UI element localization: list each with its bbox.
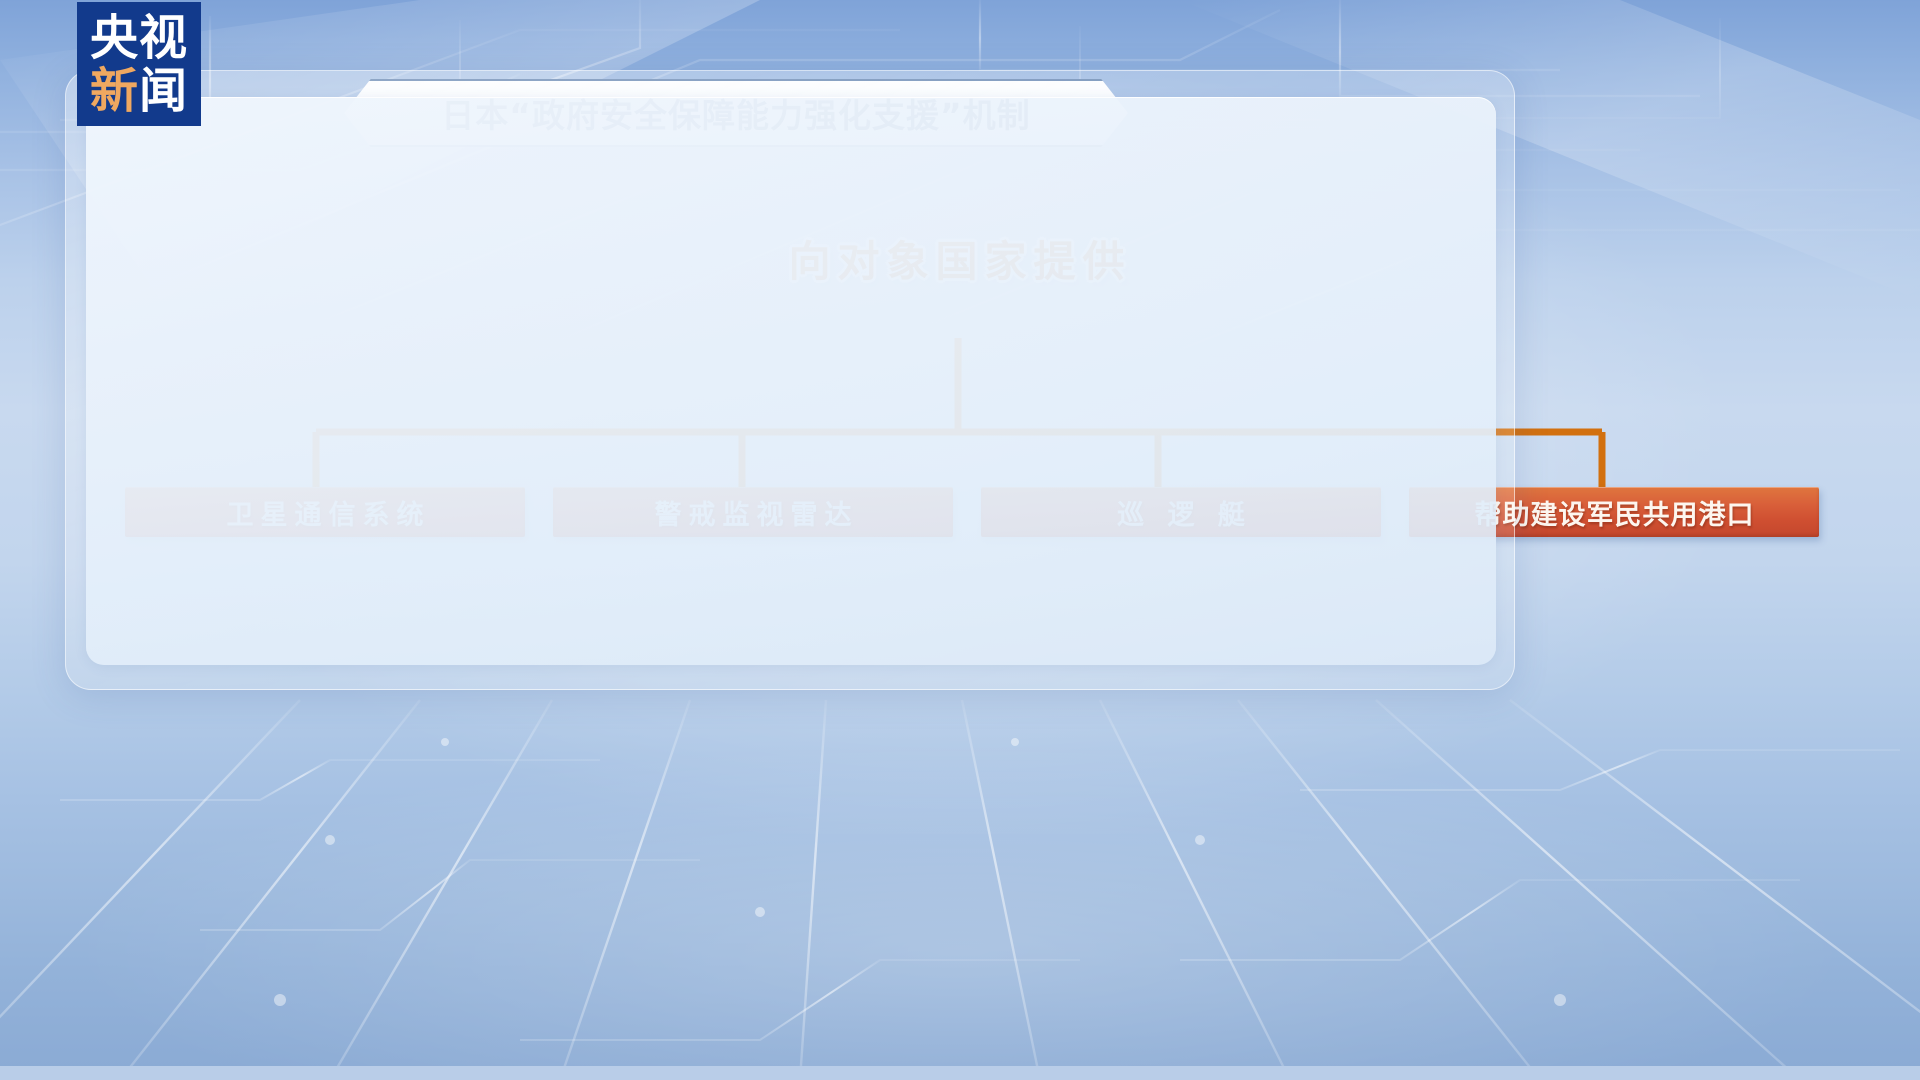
logo-char-wen: 闻 xyxy=(139,67,188,115)
logo-char-xin: 新 xyxy=(90,67,139,115)
content-panel-inner xyxy=(86,97,1496,665)
bottom-strip xyxy=(0,1066,1920,1080)
logo-line-2: 新 闻 xyxy=(90,67,188,115)
cctv-news-logo: 央视 新 闻 xyxy=(77,2,201,126)
leaf-box-label: 帮助建设军民共用港口 xyxy=(1474,493,1755,532)
logo-line-1: 央视 xyxy=(90,14,188,62)
content-panel xyxy=(65,70,1515,690)
broadcast-graphic-stage: 央视 新 闻 日本“政府安全保障能力强化支援”机制 向对象国家提供 xyxy=(0,0,1920,1080)
